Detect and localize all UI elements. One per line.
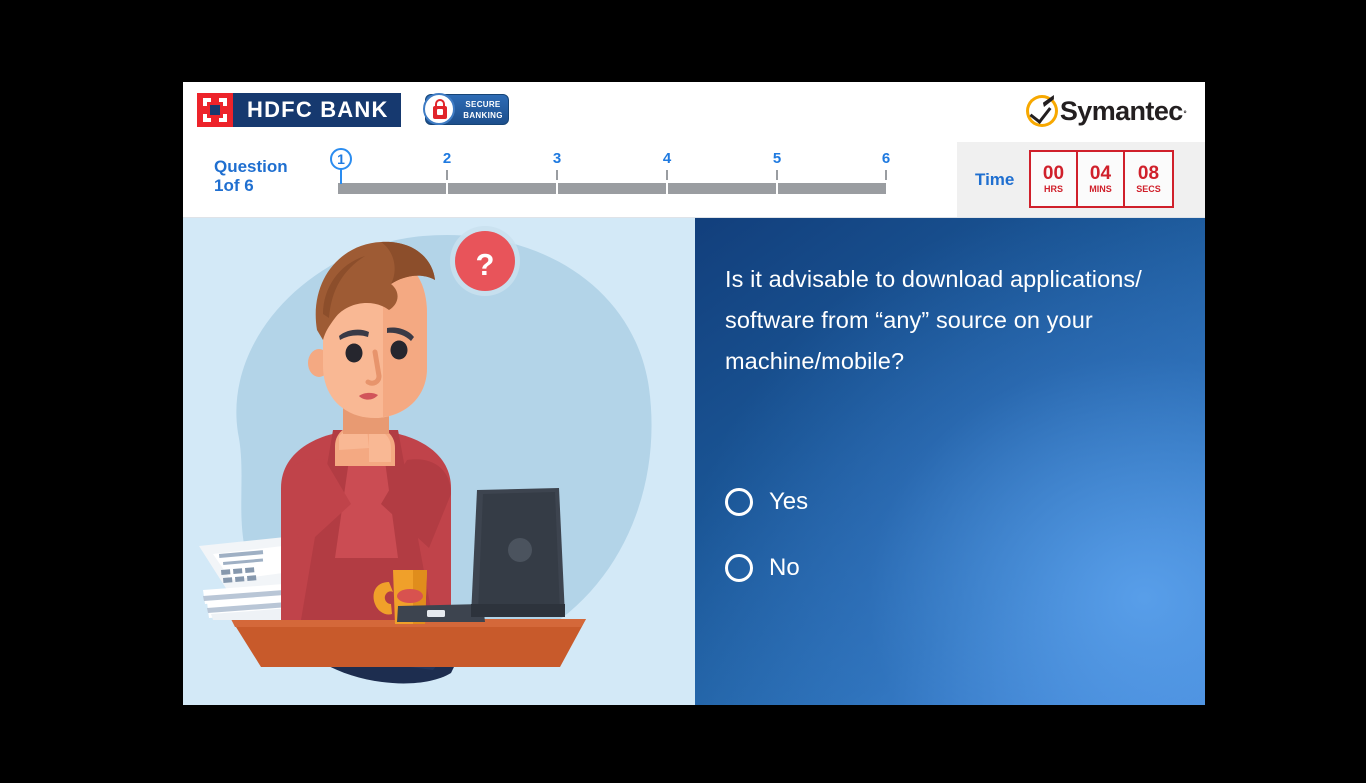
radio-button-yes[interactable] [725,488,753,516]
answer-option-no[interactable]: No [725,554,800,582]
answer-option-no-label: No [769,554,800,582]
secure-banking-badge: SECURE BANKING [425,94,509,125]
question-panel: Is it advisable to download applications… [695,218,1205,705]
step-marker-2[interactable]: 2 [443,150,451,167]
timer-hours-value: 00 [1043,164,1064,183]
step-marker-4[interactable]: 4 [663,150,671,167]
progress-segment-divider [776,183,778,194]
quiz-application-window: HDFC BANK SECURE BANKING [183,82,1205,705]
symantec-check-icon [1026,95,1058,127]
svg-text:?: ? [476,247,495,282]
timer-seconds-unit: SECS [1136,184,1161,195]
step-marker-3[interactable]: 3 [553,150,561,167]
hdfc-square-mark-icon [197,93,233,127]
quiz-body: ? Is it advisable to download applicatio… [183,218,1205,705]
progress-segment-divider [446,183,448,194]
question-counter-line1: Question [214,157,288,176]
step-tick-3 [556,170,558,180]
hdfc-bank-logo: HDFC BANK [197,93,401,127]
timer-minutes-unit: MINS [1089,184,1112,195]
progress-segment-divider [556,183,558,194]
step-marker-6[interactable]: 6 [882,150,890,167]
timer-hours: 00 HRS [1031,152,1078,206]
radio-button-no[interactable] [725,554,753,582]
screen-backdrop: HDFC BANK SECURE BANKING [0,0,1366,783]
secure-banking-label: SECURE BANKING [458,99,508,121]
question-text: Is it advisable to download applications… [725,259,1155,382]
symantec-trademark: ˚ [1183,111,1187,128]
hdfc-bank-wordmark: HDFC BANK [233,93,401,127]
timer-minutes: 04 MINS [1078,152,1125,206]
question-counter-line2: 1of 6 [214,176,288,195]
symantec-logo: Symantec ˚ [1026,94,1187,128]
progress-bar-track [338,183,886,194]
timer-seconds: 08 SECS [1125,152,1172,206]
symantec-wordmark: Symantec [1060,98,1183,125]
answer-option-yes-label: Yes [769,488,808,516]
secure-banking-line1: SECURE [458,99,508,110]
timer-seconds-value: 08 [1138,164,1159,183]
confused-man-at-laptop-illustration: ? [183,218,695,705]
timer-minutes-value: 04 [1090,164,1111,183]
timer-label: Time [975,170,1014,190]
question-counter: Question 1of 6 [214,157,288,195]
progress-and-timer-bar: Question 1of 6 1 2 3 4 5 [183,142,1205,218]
illustration-panel: ? [183,218,695,705]
step-tick-5 [776,170,778,180]
step-tick-2 [446,170,448,180]
countdown-timer: Time 00 HRS 04 MINS 08 SECS [957,142,1205,217]
progress-segment-divider [666,183,668,194]
step-marker-1[interactable]: 1 [330,148,352,170]
answer-option-yes[interactable]: Yes [725,488,808,516]
step-marker-5[interactable]: 5 [773,150,781,167]
question-progress-tracker[interactable]: 1 2 3 4 5 6 [338,142,893,217]
step-tick-4 [666,170,668,180]
secure-banking-line2: BANKING [458,110,508,121]
timer-hours-unit: HRS [1044,184,1063,195]
timer-boxes: 00 HRS 04 MINS 08 SECS [1029,150,1174,208]
step-tick-6 [885,170,887,180]
step-marker-pointer-1 [340,169,342,184]
app-header: HDFC BANK SECURE BANKING [183,82,1205,143]
padlock-icon [423,93,455,125]
